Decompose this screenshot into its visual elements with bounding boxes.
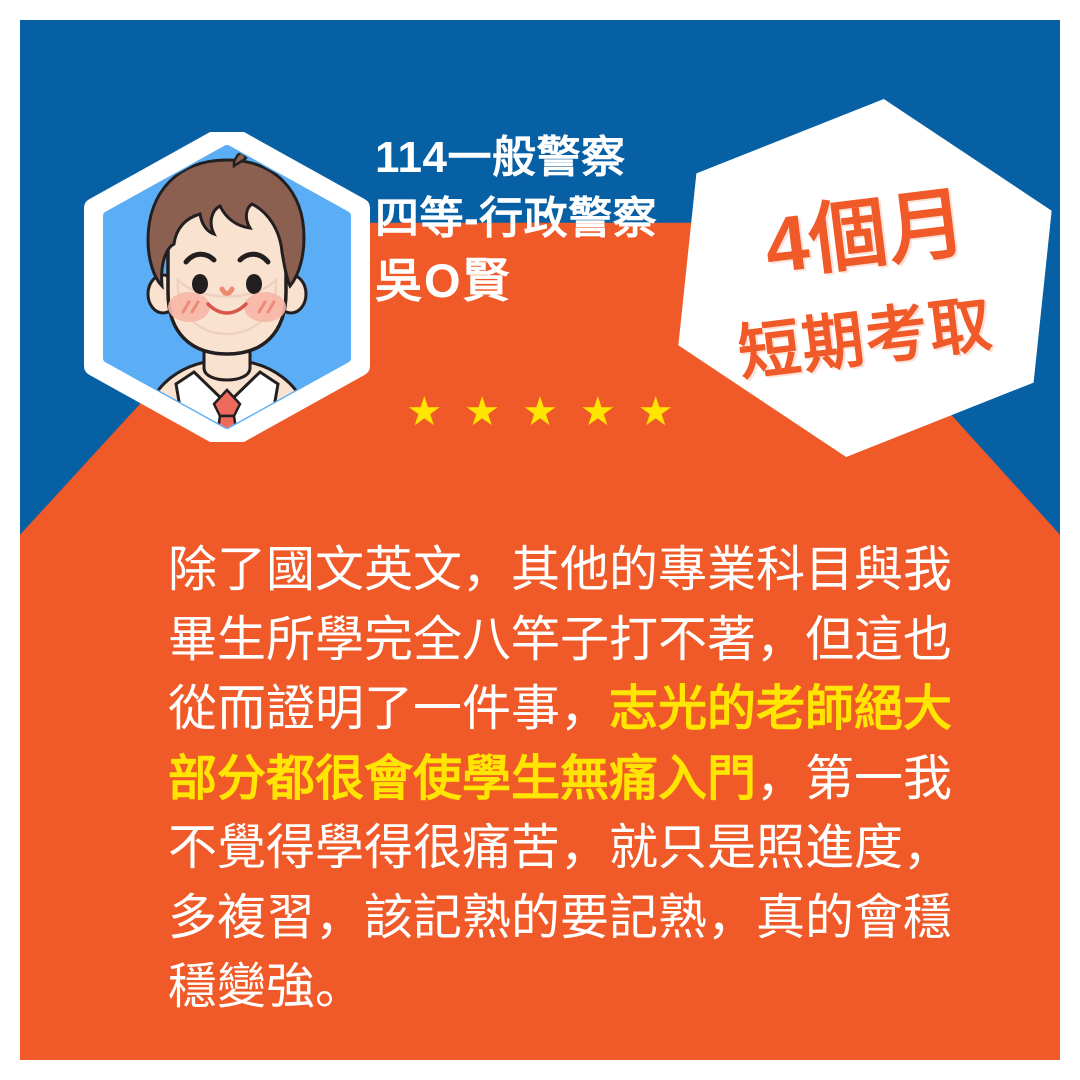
- page-title: 114一般警察 四等-行政警察 吳О賢: [375, 128, 705, 314]
- star-icon: ★: [580, 392, 638, 432]
- star-icon: ★: [406, 392, 464, 432]
- star-icon: ★: [522, 392, 580, 432]
- exam-grade-label: 四等-行政警察: [375, 189, 705, 250]
- avatar: [82, 132, 372, 442]
- testimonial-text: 除了國文英文，其他的專業科目與我畢生所學完全八竿子打不著，但這也從而證明了一件事…: [168, 535, 958, 1022]
- achievement-badge: 4個月 短期考取: [675, 98, 1055, 458]
- exam-year-label: 114一般警察: [375, 128, 705, 189]
- star-icon: ★: [464, 392, 522, 432]
- student-name-label: 吳О賢: [375, 249, 705, 314]
- testimonial-card: 114一般警察 四等-行政警察 吳О賢 4個月 短期考取 ★★★★★ 除了國文英…: [20, 20, 1060, 1060]
